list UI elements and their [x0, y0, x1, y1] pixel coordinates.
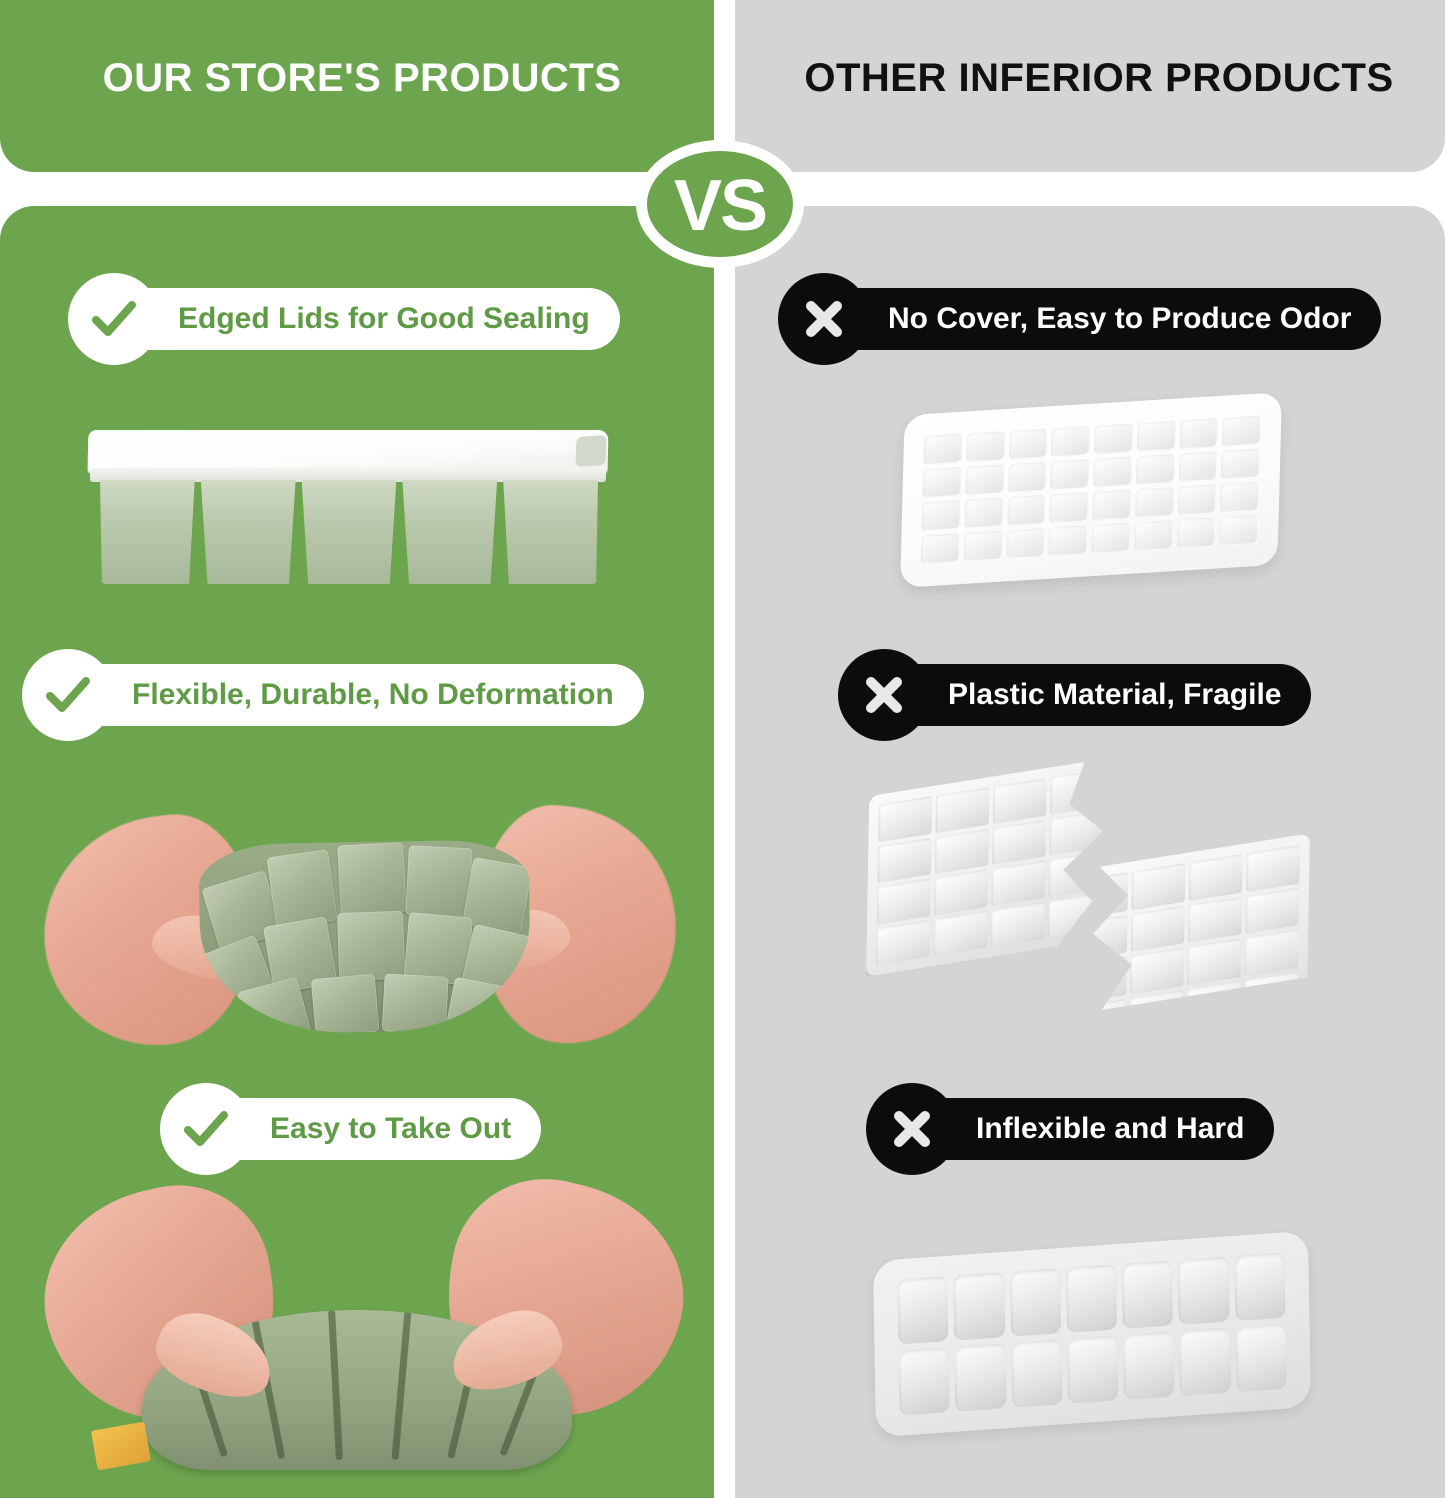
- tray-cell: [1134, 520, 1173, 551]
- tray-cell: [1245, 929, 1299, 976]
- feature-label: Edged Lids for Good Sealing: [178, 304, 590, 334]
- x-icon-glyph: [859, 670, 909, 720]
- tray-cell: [933, 910, 987, 956]
- tray-cell: [1178, 484, 1217, 515]
- tray-cell: [877, 878, 931, 924]
- drawback-pill-plastic-fragile[interactable]: Plastic Material, Fragile: [838, 664, 1311, 726]
- tray-cavity-grid: [921, 415, 1262, 564]
- drawback-pill-no-cover[interactable]: No Cover, Easy to Produce Odor: [778, 288, 1381, 350]
- check-icon: [160, 1083, 252, 1175]
- tray-cube: [382, 973, 449, 1034]
- tray-cell: [1179, 1327, 1230, 1396]
- tray-cell: [1008, 462, 1047, 493]
- tray-cell: [201, 480, 296, 584]
- tray-cell: [935, 787, 989, 833]
- page-title-left: OUR STORE'S PRODUCTS: [0, 56, 714, 101]
- tray-cell: [1093, 456, 1132, 487]
- tray-cell: [1050, 769, 1104, 815]
- feature-label: Flexible, Durable, No Deformation: [132, 680, 614, 710]
- tray-cell: [1072, 999, 1126, 1046]
- tray-cell: [1136, 454, 1175, 485]
- tray-cavity-grid: [897, 1252, 1286, 1415]
- check-icon-glyph: [42, 669, 94, 721]
- product-image-rigid-tray: [873, 1231, 1311, 1438]
- tray-cell: [1187, 938, 1241, 985]
- x-icon: [866, 1083, 958, 1175]
- vs-label: VS: [674, 170, 766, 242]
- tray-cell: [1179, 418, 1218, 449]
- tray-cell: [955, 1343, 1006, 1412]
- tray-cell: [923, 434, 962, 465]
- tray-cell: [1129, 989, 1183, 1036]
- tray-cell: [402, 480, 497, 584]
- tray-cell: [1222, 415, 1261, 446]
- feature-label: Easy to Take Out: [270, 1114, 511, 1144]
- tray-cell: [876, 920, 930, 966]
- drawback-pill-inflexible[interactable]: Inflexible and Hard: [866, 1098, 1274, 1160]
- tray-cell: [1178, 451, 1217, 482]
- tray-cell: [964, 497, 1003, 528]
- drawback-label: Plastic Material, Fragile: [948, 680, 1281, 710]
- tray-cell: [1187, 980, 1241, 1027]
- tray-cell: [1235, 1323, 1286, 1392]
- tray-cell: [922, 467, 961, 498]
- tray-cell: [1066, 1264, 1117, 1333]
- tray-cell: [1094, 423, 1133, 454]
- tray-cell: [1011, 1339, 1062, 1408]
- comparison-column-others: [735, 206, 1445, 1498]
- tray-cube: [445, 977, 515, 1035]
- feature-pill-body: Edged Lids for Good Sealing: [106, 288, 620, 350]
- tray-cell: [1178, 1256, 1229, 1325]
- tray-cell: [935, 828, 989, 874]
- tray-divider: [391, 1310, 411, 1460]
- tray-cell: [965, 464, 1004, 495]
- tray-cell: [963, 530, 1002, 561]
- tray-cell: [1131, 863, 1185, 910]
- product-image-lidded-tray: [88, 430, 608, 590]
- tray-cell: [966, 431, 1005, 462]
- tray-cell: [1234, 1252, 1285, 1321]
- tray-cell: [1189, 854, 1243, 901]
- drawback-label: Inflexible and Hard: [976, 1114, 1244, 1144]
- tray-divider: [328, 1310, 343, 1460]
- check-icon: [68, 273, 160, 365]
- page-title-right: OTHER INFERIOR PRODUCTS: [735, 56, 1445, 101]
- tray-cell: [1131, 905, 1185, 952]
- tray-cube: [337, 842, 407, 915]
- drawback-label: No Cover, Easy to Produce Odor: [888, 304, 1351, 334]
- tray-cell: [1221, 449, 1260, 480]
- tray-cell: [897, 1276, 948, 1345]
- tray-cell: [922, 500, 961, 531]
- vs-badge: VS: [636, 140, 804, 268]
- x-icon: [778, 273, 870, 365]
- tray-cell: [1050, 459, 1089, 490]
- tray-cell: [1051, 426, 1090, 457]
- x-icon-glyph: [887, 1104, 937, 1154]
- tray-cell: [1050, 492, 1089, 523]
- tray-cell: [302, 480, 397, 584]
- tray-cell: [100, 480, 195, 584]
- tray-cube: [337, 911, 405, 981]
- tray-cube: [266, 849, 337, 929]
- squeezed-tray: [198, 839, 531, 1035]
- tray-cell: [1177, 517, 1216, 548]
- tray-cell: [1009, 429, 1048, 460]
- tray-cell: [1245, 887, 1299, 934]
- feature-pill-edged-lids[interactable]: Edged Lids for Good Sealing: [68, 288, 620, 350]
- tray-lid: [88, 430, 609, 472]
- tray-cell: [1246, 845, 1300, 892]
- tray-cell: [1073, 956, 1127, 1003]
- tray-cell: [899, 1347, 950, 1416]
- tray-cell: [1123, 1331, 1174, 1400]
- tray-cell: [921, 533, 960, 564]
- check-icon-glyph: [88, 293, 140, 345]
- check-icon-glyph: [180, 1103, 232, 1155]
- product-image-flexing-tray: [40, 800, 680, 1060]
- tray-cell: [1122, 1260, 1173, 1329]
- x-icon: [838, 649, 930, 741]
- tray-cell: [991, 860, 1045, 906]
- tray-cell: [1049, 525, 1088, 556]
- feature-pill-flexible[interactable]: Flexible, Durable, No Deformation: [22, 664, 644, 726]
- feature-pill-easy-take-out[interactable]: Easy to Take Out: [160, 1098, 541, 1160]
- tray-cell: [993, 778, 1047, 824]
- tray-cell: [992, 819, 1046, 865]
- broken-tray-half-right: [1062, 833, 1310, 1057]
- comparison-column-ours: [0, 206, 714, 1498]
- broken-tray-half-left: [866, 757, 1114, 977]
- tray-cell: [1049, 810, 1103, 856]
- tray-cell: [1219, 515, 1258, 546]
- tray-cell: [1244, 971, 1298, 1018]
- tray-cell: [1135, 487, 1174, 518]
- product-image-uncovered-tray: [900, 392, 1282, 588]
- tray-cell: [1049, 851, 1103, 897]
- tray-cell: [953, 1272, 1004, 1341]
- product-image-bending-tray: [30, 1190, 690, 1490]
- tray-compartments: [100, 480, 598, 584]
- tray-cell: [878, 796, 932, 842]
- product-image-broken-tray: [840, 770, 1320, 1070]
- tray-cell: [1188, 896, 1242, 943]
- tray-cell: [991, 901, 1045, 947]
- tray-cell: [1010, 1268, 1061, 1337]
- tray-cell: [503, 480, 598, 584]
- tray-cell: [1130, 947, 1184, 994]
- tray-cell: [1220, 482, 1259, 513]
- tray-cell: [1092, 490, 1131, 521]
- yellow-tag: [91, 1422, 151, 1471]
- drawback-pill-body: Plastic Material, Fragile: [876, 664, 1311, 726]
- tray-cell: [877, 837, 931, 883]
- tray-cell: [1006, 528, 1045, 559]
- tray-cell: [1073, 914, 1127, 961]
- tray-cell: [1007, 495, 1046, 526]
- tray-cube: [311, 974, 380, 1035]
- tray-cell: [1137, 421, 1176, 452]
- tray-lid-notch: [575, 435, 606, 467]
- drawback-pill-body: Inflexible and Hard: [904, 1098, 1274, 1160]
- tray-cell: [934, 869, 988, 915]
- feature-pill-body: Flexible, Durable, No Deformation: [60, 664, 644, 726]
- tray-cell: [1091, 523, 1130, 554]
- check-icon: [22, 649, 114, 741]
- drawback-pill-body: No Cover, Easy to Produce Odor: [816, 288, 1381, 350]
- tray-cell: [1048, 892, 1102, 938]
- x-icon-glyph: [799, 294, 849, 344]
- tray-cube: [405, 845, 473, 918]
- tray-cell: [1067, 1335, 1118, 1404]
